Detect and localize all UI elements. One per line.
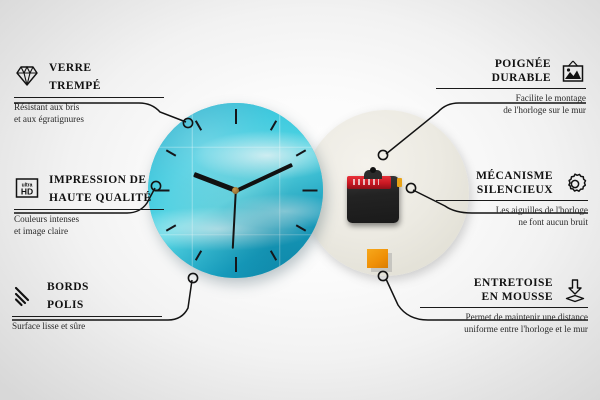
- feature-title-line2: HAUTE QUALITÉ: [49, 192, 152, 204]
- infographic-stage: VERRE TREMPÉ Résistant aux bris et aux é…: [0, 0, 600, 400]
- feature-title-line1: ENTRETOISE: [420, 277, 553, 291]
- feature-desc-line2: de l'horloge sur le mur: [436, 105, 586, 116]
- feature-title-line2: POLIS: [47, 299, 84, 311]
- feature-title-line2: DURABLE: [436, 72, 551, 86]
- feature-desc-line2: uniforme entre l'horloge et le mur: [420, 324, 588, 335]
- divider: [420, 307, 588, 308]
- feature-desc-line2: ne font aucun bruit: [436, 217, 588, 228]
- feature-title-line2: TREMPÉ: [49, 80, 101, 92]
- feature-entretoise-en-mousse: ENTRETOISE EN MOUSSE Permet de maintenir…: [420, 277, 588, 335]
- divider: [14, 209, 164, 210]
- clock-center-pin: [232, 187, 239, 194]
- feature-desc-line1: Permet de maintenir une distance: [420, 312, 588, 323]
- clock-face: [148, 103, 323, 278]
- feature-title-line1: BORDS: [47, 281, 89, 293]
- feature-desc-line2: et aux égratignures: [14, 114, 164, 125]
- feature-title-line2: EN MOUSSE: [420, 291, 553, 305]
- feature-title-line2: SILENCIEUX: [436, 184, 553, 198]
- feature-mecanisme-silencieux: MÉCANISME SILENCIEUX Les aiguilles de l'…: [436, 170, 588, 228]
- feature-desc-line1: Couleurs intenses: [14, 214, 164, 225]
- feature-impression-haute-qualite: ultraHD IMPRESSION DE HAUTE QUALITÉ Coul…: [14, 170, 164, 237]
- divider: [14, 97, 164, 98]
- diamond-icon: [14, 63, 40, 89]
- foam-spacer: [367, 249, 388, 268]
- feature-title-line1: IMPRESSION DE: [49, 174, 147, 186]
- feature-verre-trempe: VERRE TREMPÉ Résistant aux bris et aux é…: [14, 58, 164, 125]
- feature-title-line1: VERRE: [49, 62, 92, 74]
- ultra-hd-icon: ultraHD: [14, 175, 40, 201]
- divider: [436, 200, 588, 201]
- feature-title-line1: POIGNÉE: [436, 58, 551, 72]
- divider: [436, 88, 586, 89]
- feature-desc-line1: Surface lisse et sûre: [12, 321, 162, 332]
- divider: [12, 316, 162, 317]
- svg-text:HD: HD: [21, 187, 33, 197]
- polished-edges-icon: [12, 282, 38, 308]
- picture-hanger-icon: [560, 59, 586, 85]
- foam-spacer-icon: [562, 278, 588, 304]
- feature-desc-line1: Facilite le montage: [436, 93, 586, 104]
- mechanism-shaft: [370, 167, 376, 173]
- feature-poignee-durable: POIGNÉE DURABLE Facilite le montage de l…: [436, 58, 586, 116]
- feature-bords-polis: BORDS POLIS Surface lisse et sûre: [12, 277, 162, 333]
- feature-title-line1: MÉCANISME: [436, 170, 553, 184]
- feature-desc-line1: Les aiguilles de l'horloge: [436, 205, 588, 216]
- battery-label: [353, 179, 379, 185]
- clock-mechanism-body: [347, 176, 399, 223]
- gear-icon: [562, 171, 588, 197]
- feature-desc-line2: et image claire: [14, 226, 164, 237]
- feature-desc-line1: Résistant aux bris: [14, 102, 164, 113]
